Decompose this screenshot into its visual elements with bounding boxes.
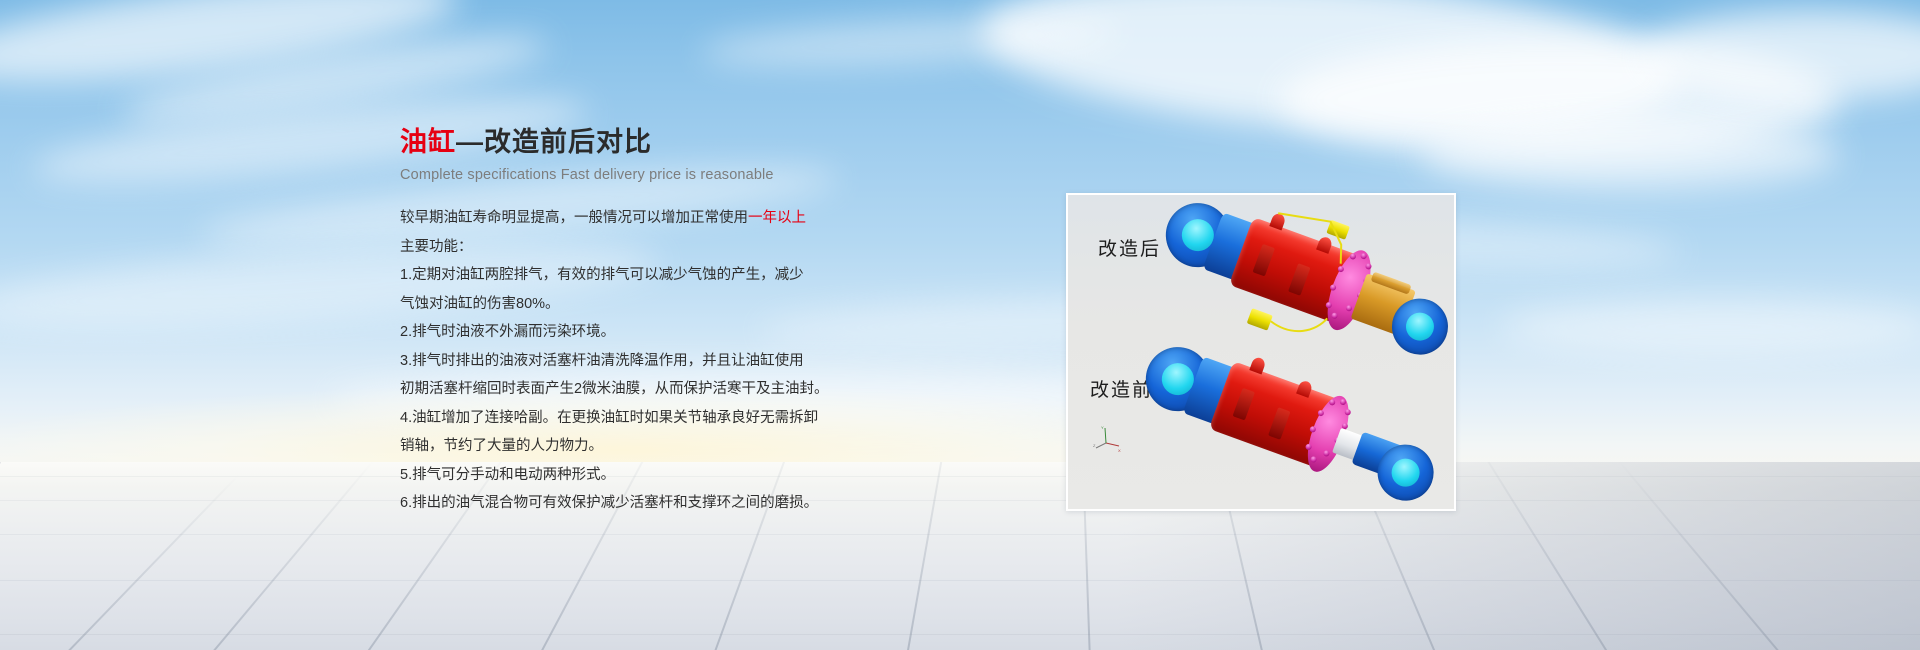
pavement-seam	[180, 462, 374, 650]
pavement-band	[0, 634, 1920, 635]
intro-line-2: 主要功能：	[400, 233, 920, 262]
pavement-seam	[1471, 462, 1632, 650]
feature-line: 1.定期对油缸两腔排气，有效的排气可以减少气蚀的产生，减少	[400, 261, 920, 290]
pavement-band	[0, 580, 1920, 581]
feature-line: 销轴，节约了大量的人力物力。	[400, 432, 920, 461]
axis-triad-icon: X Y Z	[1093, 425, 1123, 453]
pavement-band	[0, 534, 1920, 535]
feature-line: 气蚀对油缸的伤害80%。	[400, 290, 920, 319]
page-title-rest: —改造前后对比	[456, 127, 652, 157]
svg-text:Z: Z	[1093, 443, 1096, 448]
intro-line-1-highlight: 一年以上	[748, 210, 806, 226]
cloud-wisp	[1500, 300, 1920, 354]
svg-text:X: X	[1118, 448, 1121, 453]
feature-line: 2.排气时油液不外漏而污染环境。	[400, 318, 920, 347]
cloud-puff	[1420, 120, 1840, 190]
hero-banner: 油缸—改造前后对比 Complete specifications Fast d…	[0, 0, 1920, 650]
feature-description: 较早期油缸寿命明显提高，一般情况可以增加正常使用一年以上 主要功能： 1.定期对…	[400, 204, 920, 518]
banner-text-content: 油缸—改造前后对比 Complete specifications Fast d…	[400, 126, 920, 518]
feature-line: 3.排气时排出的油液对活塞杆油清洗降温作用，并且让油缸使用	[400, 347, 920, 376]
page-subtitle: Complete specifications Fast delivery pr…	[400, 167, 920, 183]
pavement-background	[0, 462, 1920, 650]
product-image-panel: 改造后 改造前 X Y Z	[1066, 193, 1456, 511]
feature-line: 4.油缸增加了连接哈副。在更换油缸时如果关节轴承良好无需拆卸	[400, 404, 920, 433]
svg-text:Y: Y	[1101, 425, 1104, 430]
page-title: 油缸—改造前后对比	[400, 126, 920, 158]
feature-line: 初期活塞杆缩回时表面产生2微米油膜，从而保护活寒干及主油封。	[400, 375, 920, 404]
page-title-highlight: 油缸	[400, 127, 456, 157]
feature-line: 5.排气可分手动和电动两种形式。	[400, 461, 920, 490]
feature-line: 6.排出的油气混合物可有效保护减少活塞杆和支撑环之间的磨损。	[400, 489, 920, 518]
intro-line-1: 较早期油缸寿命明显提高，一般情况可以增加正常使用一年以上	[400, 204, 920, 233]
intro-line-1-plain: 较早期油缸寿命明显提高，一般情况可以增加正常使用	[400, 210, 748, 226]
pavement-band	[0, 500, 1920, 501]
label-after-modification: 改造后	[1098, 234, 1161, 261]
pavement-seam	[1617, 462, 1811, 650]
